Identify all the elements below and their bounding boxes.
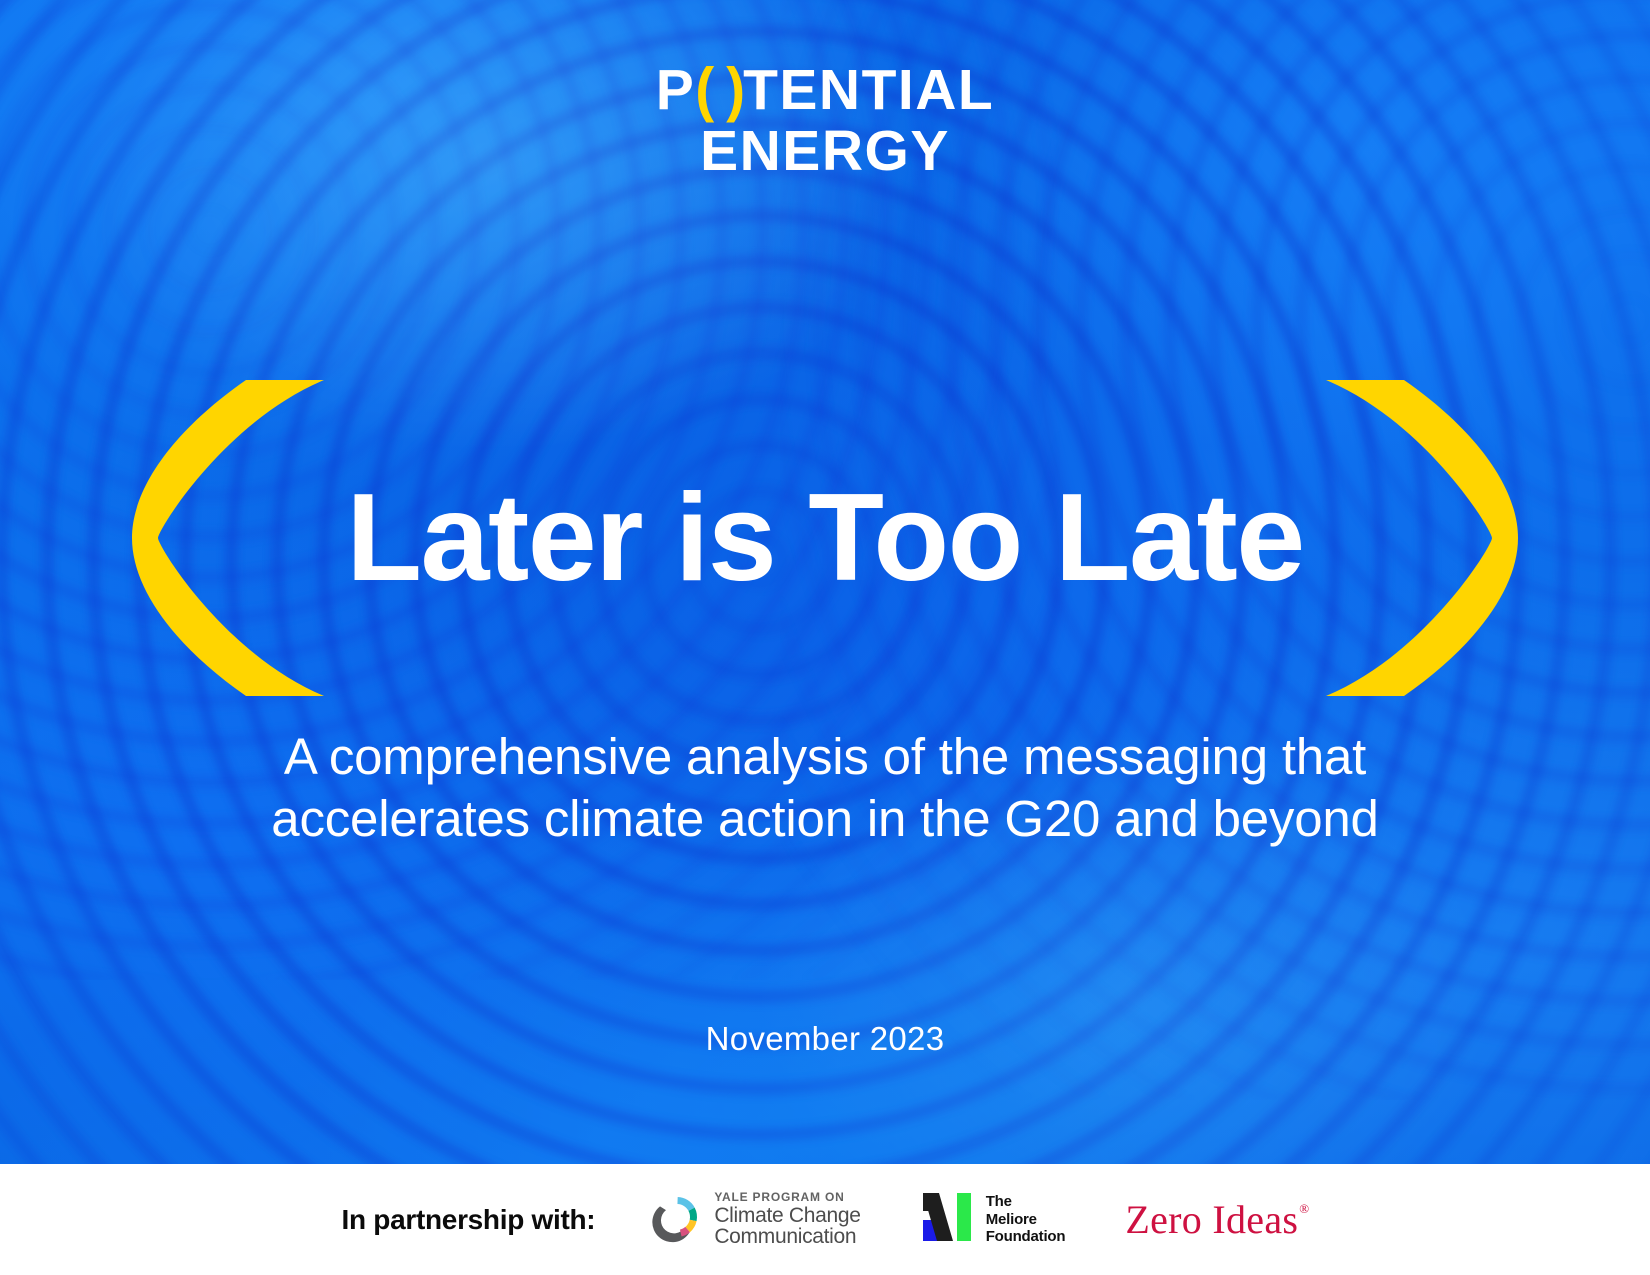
yale-line-2: Communication (714, 1226, 860, 1247)
title-block: Later is Too Late (0, 378, 1650, 698)
meliore-line-1: The (986, 1193, 1066, 1211)
registered-trademark-icon: ® (1299, 1201, 1309, 1216)
logo-text-tential: TENTIAL (743, 58, 994, 122)
logo-line-potential: P( )TENTIAL (0, 62, 1650, 119)
page-subtitle: A comprehensive analysis of the messagin… (0, 726, 1650, 850)
potential-energy-logo: P( )TENTIAL ENERGY (0, 62, 1650, 180)
report-cover-page: P( )TENTIAL ENERGY Later is Too Late (0, 0, 1650, 1275)
logo-parenthesis-icon: ( ) (695, 60, 743, 120)
meliore-wordmark: The Meliore Foundation (986, 1193, 1066, 1246)
yale-line-1: Climate Change (714, 1205, 860, 1226)
meliore-line-2: Meliore (986, 1211, 1066, 1229)
meliore-line-3: Foundation (986, 1228, 1066, 1246)
partner-logo-yale[interactable]: YALE PROGRAM ON Climate Change Communica… (651, 1191, 860, 1248)
partner-logo-meliore[interactable]: The Meliore Foundation (919, 1193, 1066, 1246)
subtitle-line-2: accelerates climate action in the G20 an… (0, 788, 1650, 850)
yale-kicker: YALE PROGRAM ON (714, 1191, 860, 1203)
partnership-label: In partnership with: (342, 1204, 596, 1236)
right-bracket-icon (1322, 378, 1522, 698)
zero-ideas-wordmark: Zero Ideas (1125, 1197, 1298, 1242)
subtitle-line-1: A comprehensive analysis of the messagin… (0, 726, 1650, 788)
yale-donut-icon (651, 1191, 703, 1248)
logo-line-energy: ENERGY (0, 123, 1650, 180)
partner-logo-zero-ideas[interactable]: Zero Ideas® (1125, 1196, 1308, 1243)
yale-wordmark: YALE PROGRAM ON Climate Change Communica… (714, 1191, 860, 1247)
meliore-mark-icon (919, 1193, 975, 1246)
publication-date: November 2023 (0, 1020, 1650, 1058)
partners-footer: In partnership with: (0, 1164, 1650, 1275)
partners-row: In partnership with: (342, 1191, 1309, 1248)
logo-text-p: P (656, 58, 696, 122)
